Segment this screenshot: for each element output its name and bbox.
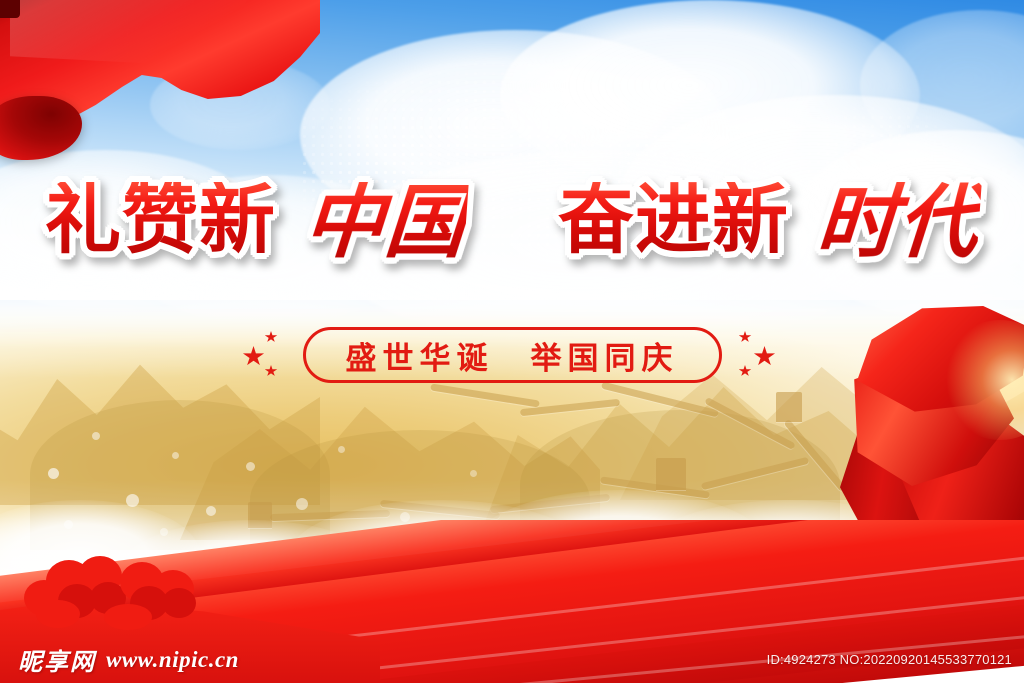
peony-petal <box>104 604 152 630</box>
bokeh-sparkle <box>206 506 216 516</box>
bokeh-sparkle <box>92 432 100 440</box>
watermark: 昵享网 www.nipic.cn <box>18 642 239 677</box>
subtitle-text: 盛世华诞 举国同庆 <box>346 333 679 378</box>
bokeh-sparkle <box>246 462 255 471</box>
bokeh-sparkle <box>48 468 59 479</box>
peony-petal <box>36 600 80 628</box>
site-url: www.nipic.cn <box>106 647 239 673</box>
asset-id-tag: ID:4924273 NO:20220920145533770121 <box>767 652 1012 667</box>
star-icon <box>265 331 278 343</box>
star-icon <box>265 365 278 377</box>
poster-canvas: 礼赞新 中国 奋进新 时代 盛世华诞 举国同庆 <box>0 0 1024 683</box>
subtitle-banner: 盛世华诞 举国同庆 <box>0 323 1024 387</box>
flag-corner <box>0 0 20 18</box>
peony-petal <box>162 588 196 618</box>
bokeh-sparkle <box>296 498 308 510</box>
red-peony-cluster <box>24 556 199 630</box>
star-icon <box>739 331 752 343</box>
bokeh-sparkle <box>338 446 345 453</box>
star-icon <box>739 365 752 377</box>
flag-gloss <box>10 0 250 66</box>
star-cluster-left <box>243 329 289 381</box>
bokeh-sparkle <box>172 452 179 459</box>
star-icon <box>754 346 776 367</box>
star-cluster-right <box>736 329 782 381</box>
bokeh-sparkle <box>470 470 477 477</box>
star-icon <box>243 346 265 367</box>
site-logo: 昵享网 <box>18 642 96 677</box>
subtitle-pill: 盛世华诞 举国同庆 <box>303 327 722 383</box>
